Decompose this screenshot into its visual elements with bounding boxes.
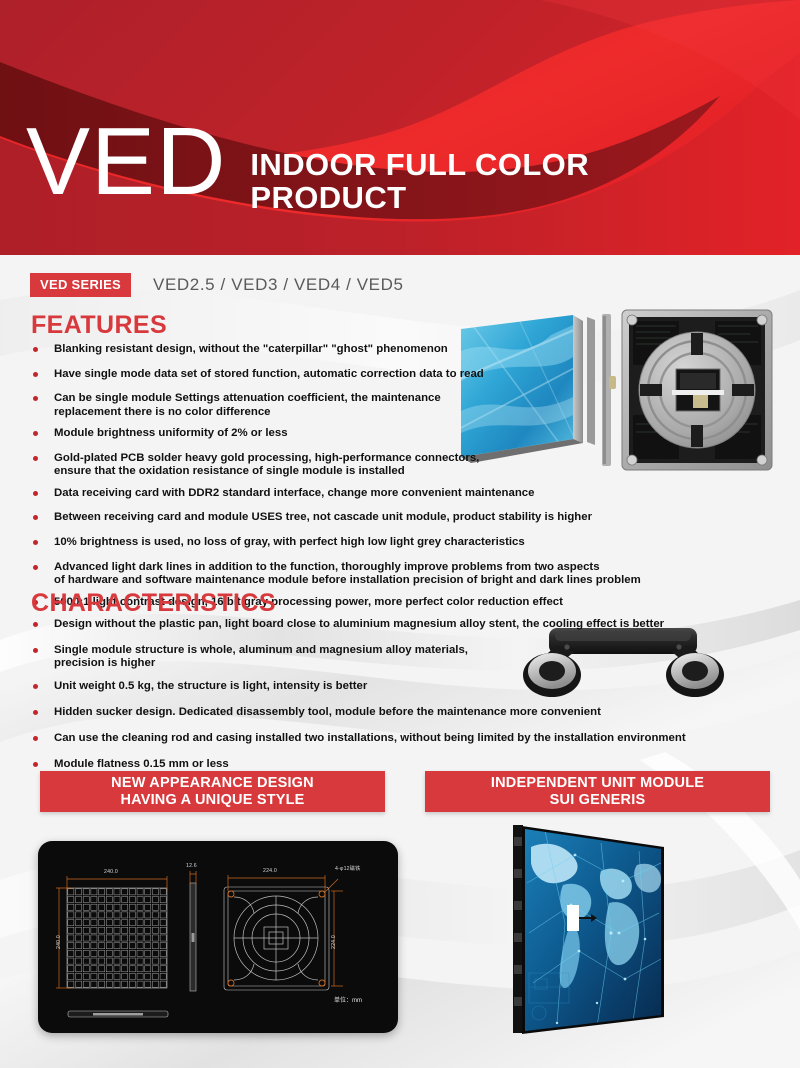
bullet-item: Between receiving card and module USES t… [30, 511, 790, 524]
bullet-line-1: 10% brightness is used, no loss of gray,… [54, 536, 525, 548]
header-banner: VED INDOOR FULL COLOR PRODUCT [0, 0, 800, 255]
brand-lockup: VED INDOOR FULL COLOR PRODUCT [26, 118, 589, 214]
banner-left-line-1: NEW APPEARANCE DESIGN [40, 775, 385, 792]
banner-independent-module: INDEPENDENT UNIT MODULE SUI GENERIS [425, 771, 770, 812]
led-video-wall-image [505, 823, 705, 1038]
features-heading: FEATURES [31, 311, 167, 340]
bullet-line-1: Can be single module Settings attenuatio… [54, 392, 441, 404]
subtitle-line-2: PRODUCT [250, 181, 589, 214]
bullet-line-1: Blanking resistant design, without the "… [54, 343, 448, 355]
bullet-item: Can be single module Settings attenuatio… [30, 392, 790, 419]
bullet-line-1: Single module structure is whole, alumin… [54, 644, 468, 656]
features-list: Blanking resistant design, without the "… [30, 343, 790, 620]
banner-right-line-1: INDEPENDENT UNIT MODULE [425, 775, 770, 792]
bullet-line-1: Design without the plastic pan, light bo… [54, 618, 664, 630]
bullet-item: Can use the cleaning rod and casing inst… [30, 732, 790, 745]
bullet-line-1: Gold-plated PCB solder heavy gold proces… [54, 452, 479, 464]
bullet-line-2: replacement there is no color difference [54, 406, 790, 419]
bullet-item: Module brightness uniformity of 2% or le… [30, 427, 790, 440]
dim-label-module-height: 224.0 [331, 935, 337, 949]
bullet-line-1: Have single mode data set of stored func… [54, 368, 484, 380]
bullet-line-1: Unit weight 0.5 kg, the structure is lig… [54, 680, 367, 692]
bullet-line-2: ensure that the oxidation resistance of … [54, 465, 790, 478]
unit-note-label: 单位：mm [334, 995, 362, 1004]
bullet-item: Blanking resistant design, without the "… [30, 343, 790, 356]
bullet-item: Gold-plated PCB solder heavy gold proces… [30, 452, 790, 479]
bullet-item: Advanced light dark lines in addition to… [30, 561, 790, 588]
bullet-item: Unit weight 0.5 kg, the structure is lig… [30, 680, 790, 693]
bullet-line-1: Can use the cleaning rod and casing inst… [54, 732, 686, 744]
bullet-item: Design without the plastic pan, light bo… [30, 618, 790, 631]
bullet-item: Single module structure is whole, alumin… [30, 644, 790, 671]
banner-right-line-2: SUI GENERIS [425, 792, 770, 809]
dim-label-height: 240.0 [56, 935, 62, 949]
dim-label-thickness: 12.6 [186, 863, 197, 869]
bullet-line-1: Module flatness 0.15 mm or less [54, 758, 229, 770]
bullet-line-1: Data receiving card with DDR2 standard i… [54, 487, 534, 499]
bullet-item: Have single mode data set of stored func… [30, 368, 790, 381]
subtitle-line-1: INDOOR FULL COLOR [250, 148, 589, 181]
series-badge: VED SERIES [30, 273, 131, 297]
dim-label-width: 240.0 [104, 869, 118, 875]
dim-label-magnet-note: 4-φ12磁铁 [335, 865, 361, 872]
technical-drawing-card: 240.0 240.0 12.6 224.0 224.0 4-φ12磁铁 单位：… [38, 841, 398, 1033]
series-row: VED SERIES VED2.5 / VED3 / VED4 / VED5 [30, 273, 404, 297]
bullet-line-2: precision is higher [54, 657, 790, 670]
banner-left-line-2: HAVING A UNIQUE STYLE [40, 792, 385, 809]
characteristics-list: Design without the plastic pan, light bo… [30, 618, 790, 784]
product-brochure-page: VED INDOOR FULL COLOR PRODUCT VED SERIES… [0, 0, 800, 1068]
bullet-item: Hidden sucker design. Dedicated disassem… [30, 706, 790, 719]
bullet-line-1: Advanced light dark lines in addition to… [54, 561, 600, 573]
bullet-item: Data receiving card with DDR2 standard i… [30, 487, 790, 500]
characteristics-heading: CHARACTERISTICS [31, 589, 276, 618]
bullet-item: 10% brightness is used, no loss of gray,… [30, 536, 790, 549]
bullet-item: Module flatness 0.15 mm or less [30, 758, 790, 771]
bullet-line-1: Hidden sucker design. Dedicated disassem… [54, 706, 601, 718]
bullet-line-2: of hardware and software maintenance mod… [54, 574, 790, 587]
dim-label-module-width: 224.0 [263, 868, 277, 874]
bullet-line-1: Module brightness uniformity of 2% or le… [54, 427, 288, 439]
bullet-line-1: Between receiving card and module USES t… [54, 511, 592, 523]
brand-name: VED [26, 118, 226, 206]
brand-subtitle: INDOOR FULL COLOR PRODUCT [250, 148, 589, 214]
series-model-list: VED2.5 / VED3 / VED4 / VED5 [153, 275, 404, 295]
banner-new-appearance: NEW APPEARANCE DESIGN HAVING A UNIQUE ST… [40, 771, 385, 812]
